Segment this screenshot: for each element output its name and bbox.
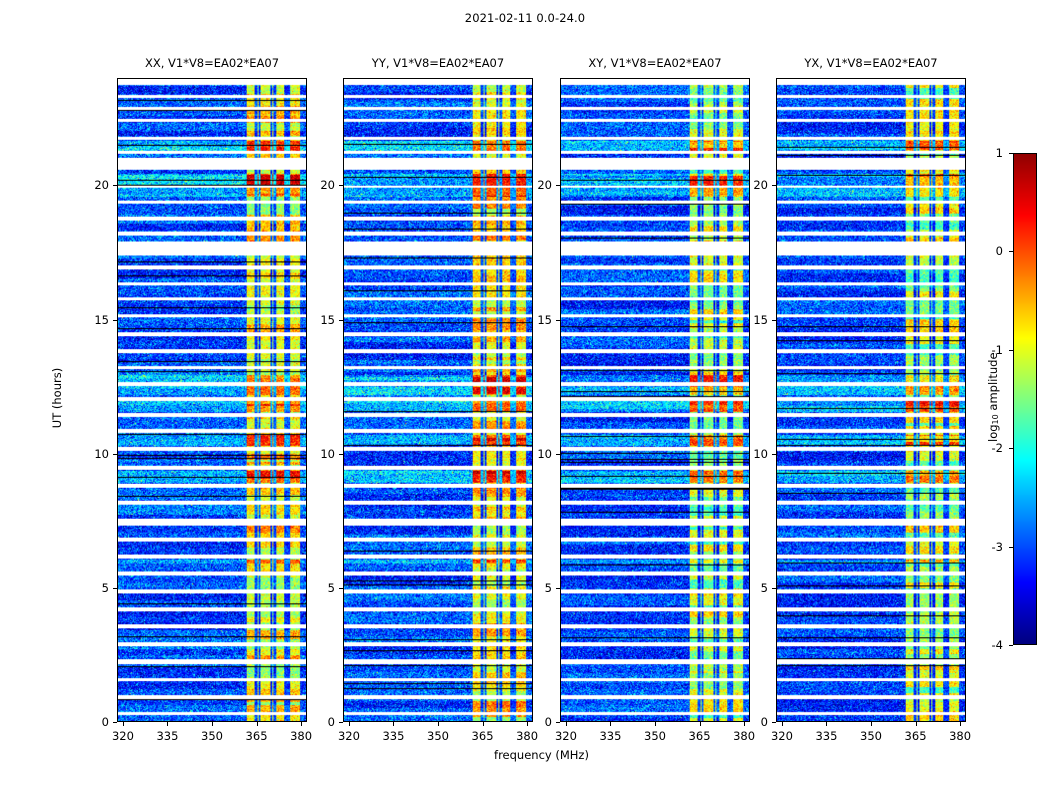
colorbar-tickmark [1009, 350, 1013, 351]
x-tick-label: 320 [771, 729, 793, 743]
y-tick-label: 0 [301, 715, 335, 729]
y-tick-label: 15 [734, 313, 768, 327]
colorbar-label-subscript: 10 [991, 414, 1000, 424]
y-tickmark [113, 185, 117, 186]
y-tickmark [339, 454, 343, 455]
y-tickmark [339, 722, 343, 723]
y-tick-label: 5 [734, 581, 768, 595]
panel-title-yy: YY, V1*V8=EA02*EA07 [343, 56, 533, 70]
x-tick-label: 365 [472, 729, 494, 743]
colorbar-tick-label: -4 [969, 638, 1003, 652]
panel-title-xy: XY, V1*V8=EA02*EA07 [560, 56, 750, 70]
colorbar-tickmark [1009, 153, 1013, 154]
x-tickmark [349, 722, 350, 726]
y-tick-label: 20 [734, 178, 768, 192]
y-tickmark [772, 320, 776, 321]
y-tick-label: 10 [518, 447, 552, 461]
y-tickmark [113, 722, 117, 723]
x-tick-label: 320 [555, 729, 577, 743]
x-tick-label: 380 [290, 729, 312, 743]
y-tick-label: 20 [301, 178, 335, 192]
colorbar-tickmark [1009, 251, 1013, 252]
x-axis-label: frequency (MHz) [452, 748, 632, 762]
x-tickmark [826, 722, 827, 726]
x-tick-label: 380 [733, 729, 755, 743]
y-tickmark [556, 320, 560, 321]
x-tickmark [655, 722, 656, 726]
x-tickmark [393, 722, 394, 726]
x-tick-label: 335 [382, 729, 404, 743]
y-tick-label: 10 [734, 447, 768, 461]
colorbar-tick-label: 0 [969, 244, 1003, 258]
colorbar-tick-label: 1 [969, 146, 1003, 160]
y-tick-label: 5 [301, 581, 335, 595]
y-tick-label: 5 [518, 581, 552, 595]
x-tick-label: 350 [860, 729, 882, 743]
x-tick-label: 335 [599, 729, 621, 743]
y-tick-label: 20 [75, 178, 109, 192]
colorbar-label-tail: amplitude [986, 352, 1000, 414]
y-tickmark [772, 722, 776, 723]
figure-canvas: 2021-02-11 0.0-24.0 XX, V1*V8=EA02*EA07 … [0, 0, 1050, 800]
y-tickmark [113, 454, 117, 455]
y-tick-label: 0 [75, 715, 109, 729]
colorbar-label-text: log [986, 424, 1000, 442]
y-tick-label: 20 [518, 178, 552, 192]
x-tickmark [871, 722, 872, 726]
colorbar-tick-label: -2 [969, 441, 1003, 455]
heatmap-panel-yx[interactable] [776, 78, 966, 722]
panel-title-xx: XX, V1*V8=EA02*EA07 [117, 56, 307, 70]
x-tick-label: 350 [427, 729, 449, 743]
x-tickmark [123, 722, 124, 726]
x-tick-label: 350 [644, 729, 666, 743]
colorbar-tickmark [1009, 547, 1013, 548]
x-tickmark [960, 722, 961, 726]
y-tickmark [113, 588, 117, 589]
x-tick-label: 380 [516, 729, 538, 743]
y-tickmark [339, 320, 343, 321]
x-tickmark [610, 722, 611, 726]
x-tickmark [438, 722, 439, 726]
y-tick-label: 5 [75, 581, 109, 595]
y-tick-label: 15 [301, 313, 335, 327]
y-tickmark [772, 588, 776, 589]
x-tick-label: 320 [112, 729, 134, 743]
y-tick-label: 0 [518, 715, 552, 729]
y-tickmark [556, 454, 560, 455]
y-tick-label: 10 [301, 447, 335, 461]
x-tickmark [257, 722, 258, 726]
x-tick-label: 335 [815, 729, 837, 743]
y-tickmark [339, 185, 343, 186]
y-tick-label: 10 [75, 447, 109, 461]
x-tickmark [566, 722, 567, 726]
figure-suptitle: 2021-02-11 0.0-24.0 [0, 11, 1050, 25]
y-tickmark [556, 185, 560, 186]
x-tickmark [483, 722, 484, 726]
y-tickmark [772, 185, 776, 186]
y-tickmark [556, 722, 560, 723]
colorbar[interactable] [1013, 153, 1037, 645]
x-tick-label: 365 [246, 729, 268, 743]
x-tickmark [700, 722, 701, 726]
colorbar-label: log10 amplitude [986, 307, 1000, 487]
colorbar-tickmark [1009, 645, 1013, 646]
heatmap-panel-xy[interactable] [560, 78, 750, 722]
y-axis-label: UT (hours) [50, 308, 64, 488]
colorbar-tick-label: -1 [969, 343, 1003, 357]
panel-title-yx: YX, V1*V8=EA02*EA07 [776, 56, 966, 70]
x-tick-label: 350 [201, 729, 223, 743]
x-tick-label: 365 [689, 729, 711, 743]
y-tickmark [772, 454, 776, 455]
y-tick-label: 15 [75, 313, 109, 327]
x-tickmark [212, 722, 213, 726]
y-tickmark [113, 320, 117, 321]
x-tickmark [167, 722, 168, 726]
heatmap-panel-xx[interactable] [117, 78, 307, 722]
colorbar-tickmark [1009, 448, 1013, 449]
heatmap-panel-yy[interactable] [343, 78, 533, 722]
y-tick-label: 0 [734, 715, 768, 729]
x-tick-label: 365 [905, 729, 927, 743]
y-tick-label: 15 [518, 313, 552, 327]
colorbar-tick-label: -3 [969, 540, 1003, 554]
x-tickmark [782, 722, 783, 726]
x-tick-label: 320 [338, 729, 360, 743]
y-tickmark [556, 588, 560, 589]
x-tick-label: 335 [156, 729, 178, 743]
x-tickmark [916, 722, 917, 726]
y-tickmark [339, 588, 343, 589]
x-tick-label: 380 [949, 729, 971, 743]
